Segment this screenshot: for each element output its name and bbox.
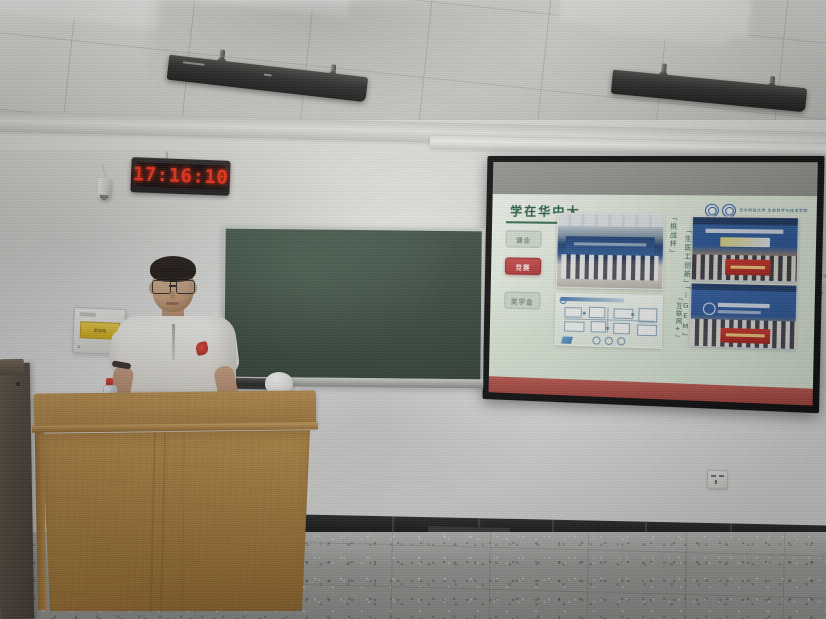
photo-headline (718, 303, 770, 308)
wooden-lectern (28, 392, 316, 619)
student-presenter (110, 258, 245, 408)
cabinet-hole (16, 382, 20, 386)
screen-top-band (493, 162, 818, 196)
photo-event-logo-icon (703, 302, 716, 315)
diagram-icon (592, 336, 600, 344)
diagram-node-dot (606, 327, 609, 330)
photo-ceiling (558, 214, 663, 227)
power-outlet-icon (707, 470, 728, 490)
diagram-flag (561, 336, 573, 343)
mouth (166, 302, 179, 305)
glasses-bridge (169, 285, 177, 287)
panel-tag (80, 312, 96, 317)
clock-face: 17:16:10 (136, 162, 226, 189)
slide-photo-project-diagram (555, 293, 663, 349)
shirt-collar-left (152, 316, 165, 336)
slide-chip-scholarship: 奖学金 (504, 291, 540, 309)
slide-photo-award-bottom (689, 282, 797, 350)
photo-red-banner (725, 259, 771, 276)
outlet-slot (711, 475, 716, 477)
diagram-node (591, 321, 607, 333)
slide-photo-award-top (691, 216, 799, 282)
diagram-node-dot (631, 313, 634, 316)
chalkboard-surface (224, 229, 482, 380)
outlet-slot (715, 480, 717, 484)
diagram-node (564, 321, 585, 332)
slide-vertical-text: 「iGEM」 (680, 282, 690, 341)
slide-vertical-text: 「生医工创新」 (681, 226, 691, 288)
diagram-node-dot (583, 312, 586, 315)
diagram-node (613, 323, 630, 335)
projection-screen: 学在华中大 华中科技大学 生命科学与技术学院 课业 竞赛 奖学金 (482, 156, 824, 413)
wood-grain-texture (42, 430, 310, 611)
clock-time-display: 17:16:10 (132, 165, 228, 188)
screen-surface: 学在华中大 华中科技大学 生命科学与技术学院 课业 竞赛 奖学金 (489, 162, 818, 406)
lectern-front-panel (42, 430, 310, 611)
cabinet-top-notch (0, 359, 24, 375)
slide-chip-competition: 竞赛 (505, 257, 541, 275)
shirt-collar-right (182, 316, 195, 336)
diagram-node (564, 307, 582, 318)
wall-led-clock: 17:16:10 (130, 157, 230, 196)
diagram-node (637, 324, 657, 336)
slide-vertical-text: 「挑战杯」 (667, 214, 676, 258)
presentation-slide: 学在华中大 华中科技大学 生命科学与技术学院 课业 竞赛 奖学金 (489, 194, 818, 406)
photo-headline (706, 229, 784, 234)
slide-chip-coursework: 课业 (505, 230, 541, 248)
outlet-slot (719, 475, 724, 477)
lens-left (152, 280, 171, 294)
photo-subheadline (718, 310, 761, 314)
photo-top-bar (693, 217, 798, 225)
diagram-icon (617, 337, 625, 345)
lens-right (176, 280, 195, 294)
panel-screw (77, 345, 80, 348)
nose (170, 291, 175, 299)
diagram-logo-icon (560, 296, 567, 303)
shirt-placket (172, 324, 175, 360)
photo-top-bar (692, 283, 797, 292)
diagram-header (561, 297, 625, 303)
camera-icon (95, 172, 115, 203)
slide-photo-team-group (556, 213, 665, 290)
diagram-node (589, 307, 606, 319)
photo-red-banner (720, 328, 770, 344)
green-chalkboard (221, 226, 485, 389)
classroom-photo: 17:16:10 配电箱 课程表 / 通知 节次 时间 一二 三四 五六 七八 … (0, 0, 826, 619)
diagram-icon (605, 337, 613, 345)
photo-event-title (720, 237, 770, 247)
slide-org-text: 华中科技大学 生命科学与技术学院 (739, 209, 808, 214)
lectern-side-edge (34, 402, 47, 610)
photo-floor (557, 279, 662, 289)
